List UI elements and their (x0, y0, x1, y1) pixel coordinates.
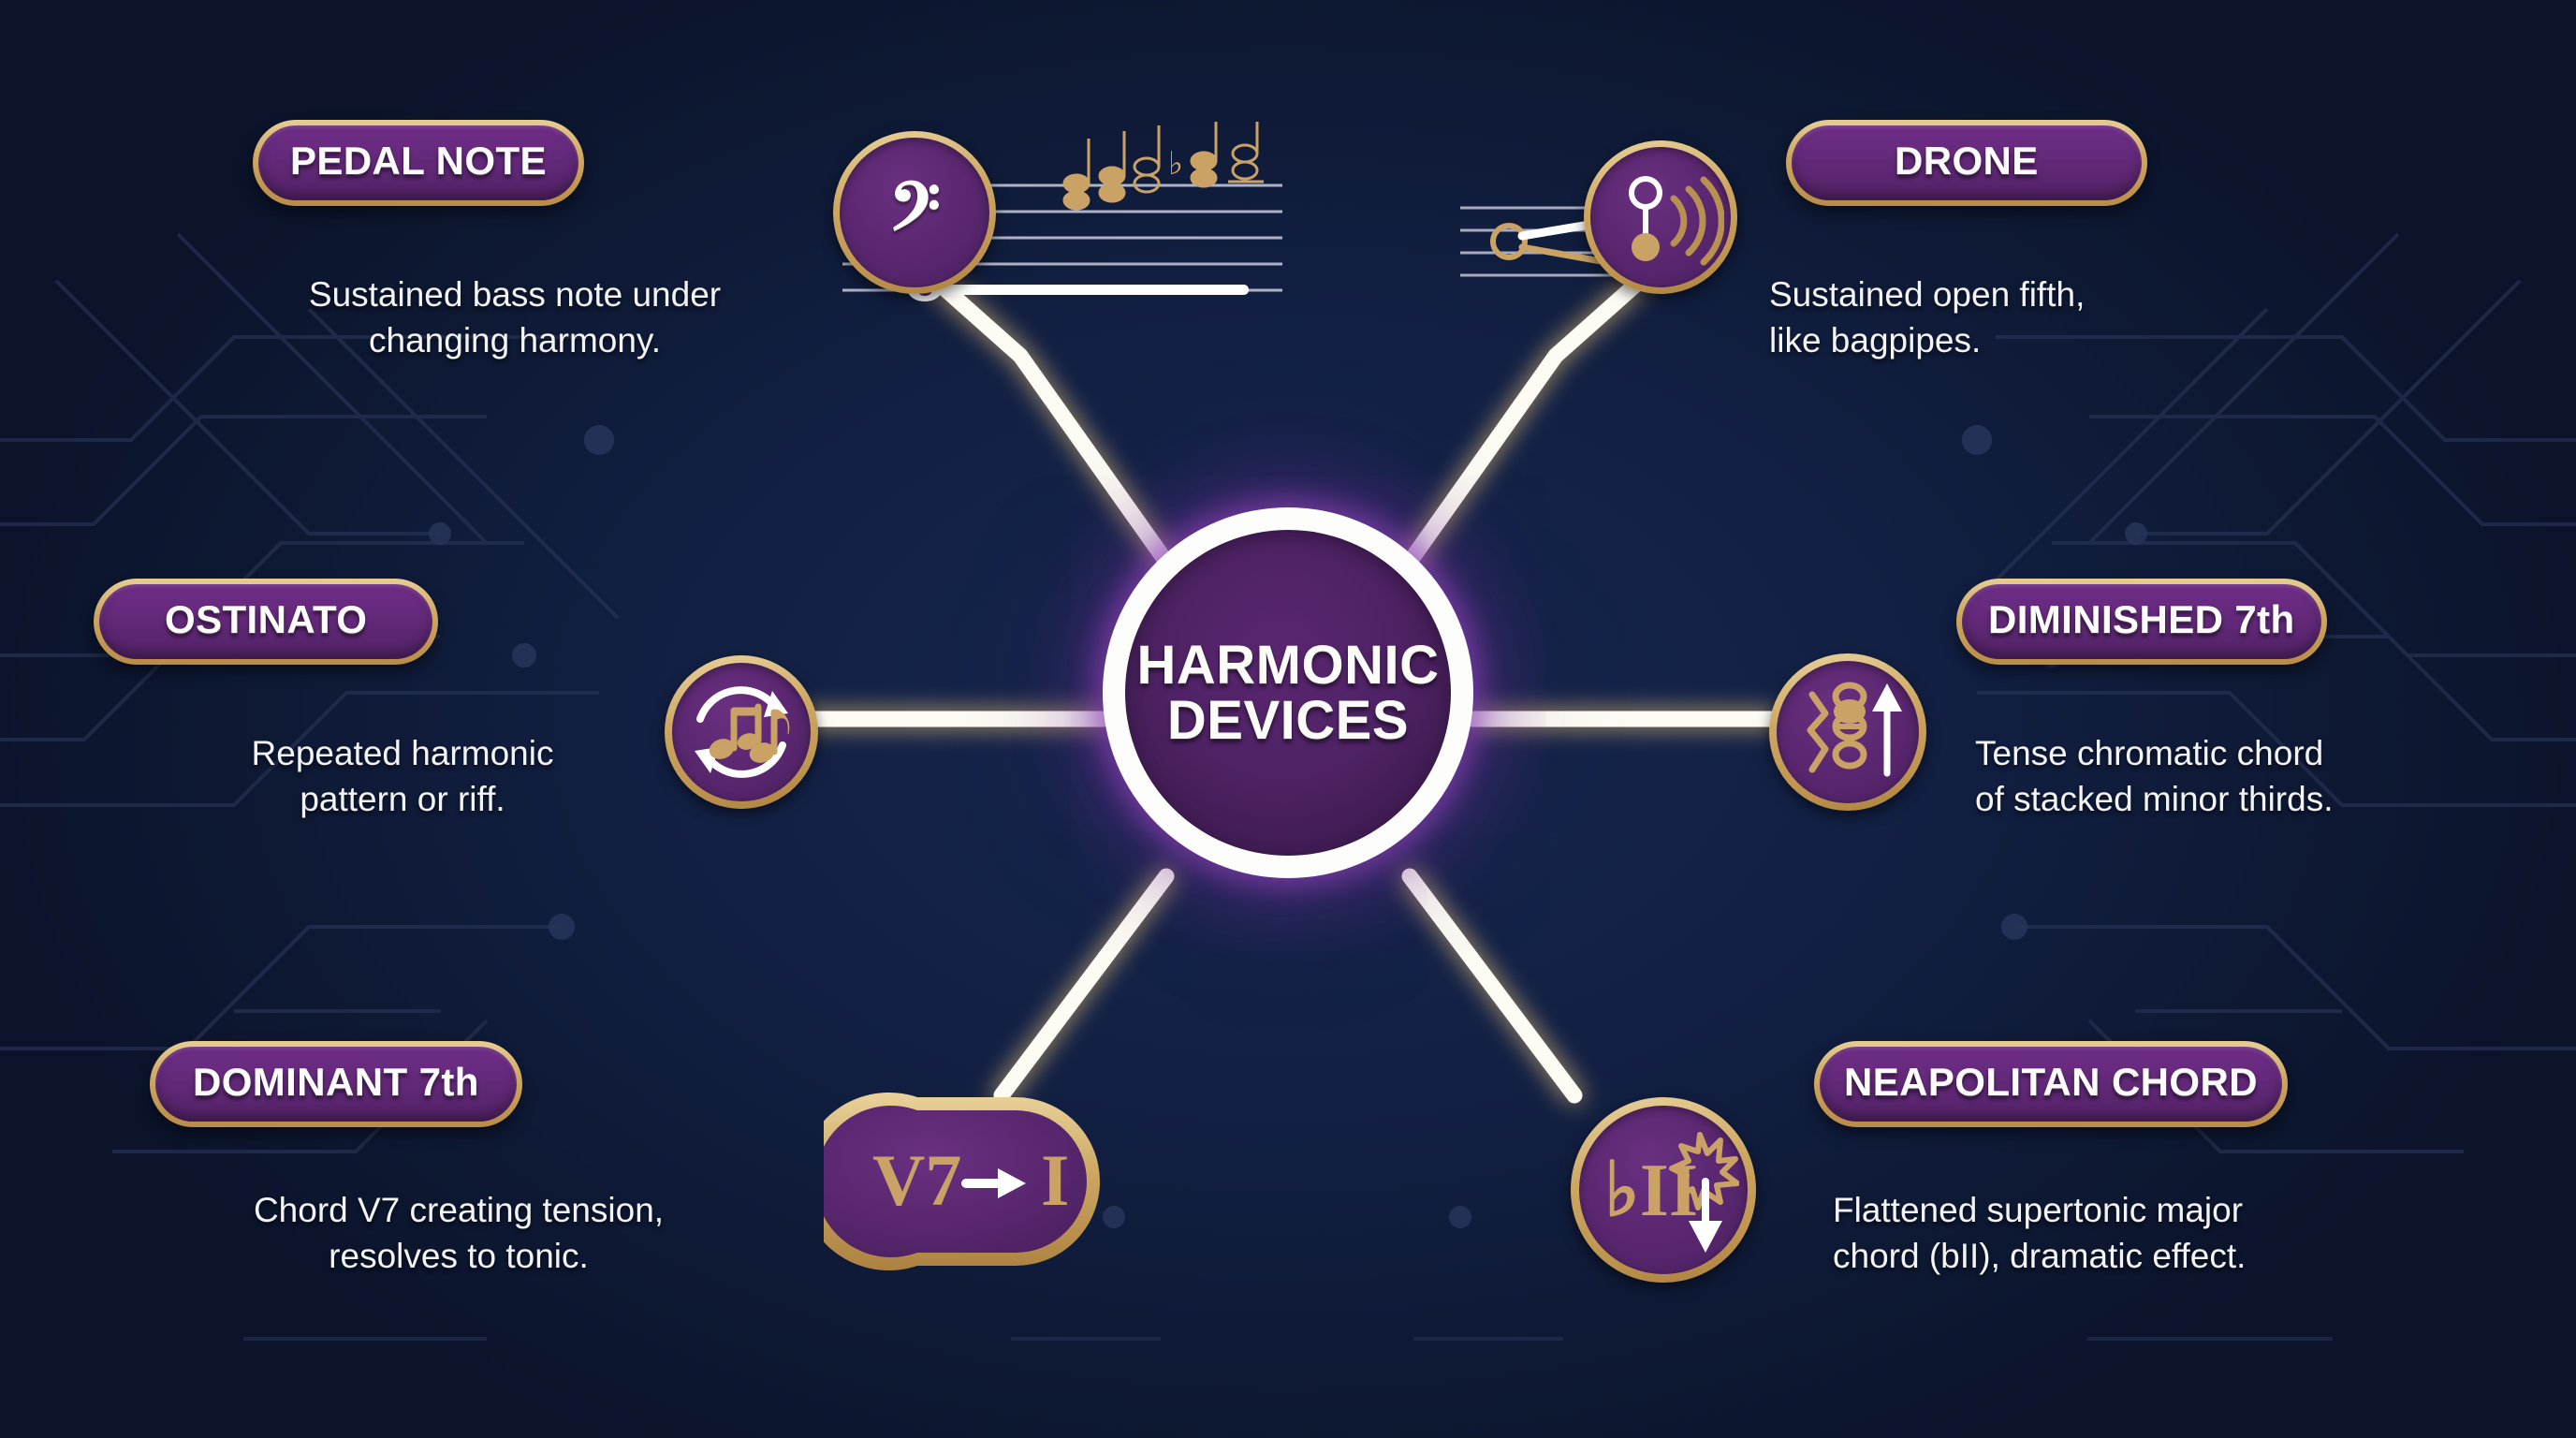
node-label-diminished-7th[interactable]: DIMINISHED 7th (1956, 579, 2327, 665)
ostinato-description: Repeated harmonic pattern or riff. (103, 730, 702, 822)
dominant-7th-label: DOMINANT 7th (193, 1060, 479, 1105)
infographic-canvas: HARMONIC DEVICES PEDAL NOTE Sustained ba… (0, 0, 2576, 1438)
central-hub: HARMONIC DEVICES (1103, 507, 1473, 878)
diminished-7th-description: Tense chromatic chord of stacked minor t… (1975, 730, 2576, 822)
page-title: HARMONIC DEVICES (1137, 638, 1440, 748)
v7-text: V7 (872, 1139, 961, 1221)
flat-two-burst-icon: ♭II (1588, 1114, 1739, 1266)
dominant-7th-description: Chord V7 creating tension, resolves to t… (131, 1187, 786, 1279)
repeat-arrows-notes-icon (680, 670, 803, 794)
neapolitan-chord-description: Flattened supertonic major chord (bII), … (1833, 1187, 2525, 1279)
v7-to-i-shape: V7 I (824, 1078, 1123, 1284)
central-hub-disc: HARMONIC DEVICES (1125, 530, 1451, 856)
node-label-neapolitan-chord[interactable]: NEAPOLITAN CHORD (1814, 1041, 2288, 1127)
hub-title-line-1: HARMONIC (1137, 638, 1440, 693)
pedal-note-description: Sustained bass note under changing harmo… (187, 271, 842, 363)
tonic-i-text: I (1041, 1139, 1069, 1221)
drone-description: Sustained open fifth, like bagpipes. (1769, 271, 2424, 363)
node-label-dominant-7th[interactable]: DOMINANT 7th (150, 1041, 522, 1127)
node-label-drone[interactable]: DRONE (1786, 120, 2147, 206)
drone-label: DRONE (1895, 139, 2039, 183)
neapolitan-chord-icon[interactable]: ♭II (1571, 1097, 1756, 1283)
pedal-note-label: PEDAL NOTE (290, 139, 547, 183)
drone-icon[interactable] (1584, 140, 1737, 294)
svg-text:♭: ♭ (1168, 147, 1183, 182)
pedal-note-icon[interactable]: 𝄢 (833, 131, 996, 294)
hub-title-line-2: DEVICES (1137, 693, 1440, 748)
neapolitan-chord-label: NEAPOLITAN CHORD (1844, 1060, 2258, 1105)
ostinato-label: OSTINATO (165, 597, 367, 642)
diminished-7th-label: DIMINISHED 7th (1988, 597, 2295, 642)
diminished-7th-icon[interactable] (1769, 653, 1926, 811)
dominant-7th-icon[interactable]: V7 I (824, 1078, 1123, 1289)
stacked-thirds-arrow-icon (1784, 668, 1911, 796)
node-label-ostinato[interactable]: OSTINATO (94, 579, 438, 665)
ostinato-icon[interactable] (665, 655, 818, 809)
node-label-pedal-note[interactable]: PEDAL NOTE (253, 120, 584, 206)
open-fifth-waves-icon (1597, 154, 1724, 281)
